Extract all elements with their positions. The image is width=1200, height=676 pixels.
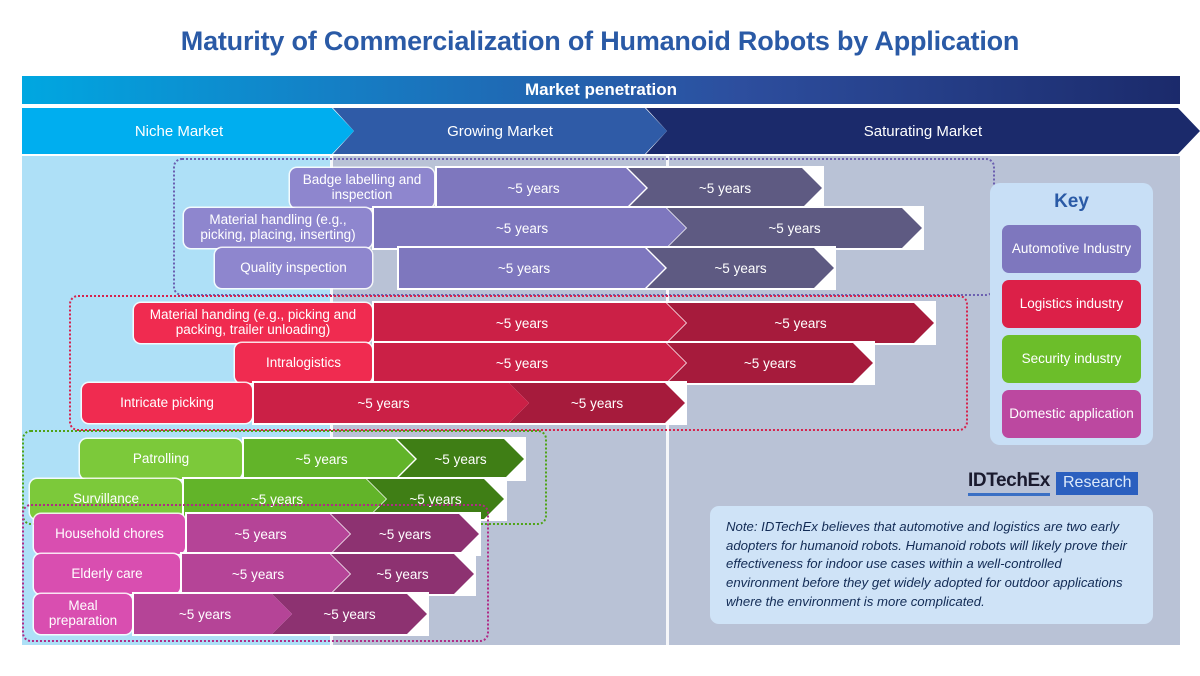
segment-growing: ~5 years (254, 383, 529, 423)
segment-saturating-label: ~5 years (744, 356, 796, 371)
key-item-domestic-label: Domestic application (1009, 406, 1134, 421)
segment-growing-label: ~5 years (357, 396, 409, 411)
stage-niche-market[interactable]: Niche Market (22, 108, 354, 154)
segment-saturating-label: ~5 years (376, 567, 428, 582)
stage-saturating-market[interactable]: Saturating Market (646, 108, 1200, 154)
segment-growing-label: ~5 years (496, 356, 548, 371)
segment-growing: ~5 years (399, 248, 665, 288)
segment-saturating: ~5 years (667, 208, 922, 248)
infographic-root: Maturity of Commercialization of Humanoi… (0, 0, 1200, 676)
market-penetration-band: Market penetration (22, 76, 1180, 104)
application-label-material-handling-auto[interactable]: Material handling (e.g., picking, placin… (184, 208, 372, 248)
segment-saturating-label: ~5 years (323, 607, 375, 622)
segment-saturating-label: ~5 years (379, 527, 431, 542)
segment-saturating-label: ~5 years (714, 261, 766, 276)
segment-growing-label: ~5 years (496, 316, 548, 331)
idtechex-logo[interactable]: IDTechEx Research (968, 471, 1138, 495)
segment-growing: ~5 years (374, 208, 686, 248)
segment-growing-label: ~5 years (295, 452, 347, 467)
application-label-badge-labelling[interactable]: Badge labelling and inspection (290, 168, 434, 208)
segment-growing: ~5 years (374, 343, 686, 383)
segment-growing: ~5 years (134, 594, 292, 634)
segment-growing-label: ~5 years (496, 221, 548, 236)
stage-saturating-market-label: Saturating Market (846, 123, 1000, 140)
key-item-domestic[interactable]: Domestic application (1002, 390, 1141, 438)
stage-growing-market[interactable]: Growing Market (333, 108, 667, 154)
segment-growing: ~5 years (244, 439, 415, 479)
segment-saturating-label: ~5 years (768, 221, 820, 236)
segment-saturating: ~5 years (331, 514, 479, 554)
key-item-logistics[interactable]: Logistics industry (1002, 280, 1141, 328)
application-label-quality-inspection[interactable]: Quality inspection (215, 248, 372, 288)
segment-saturating: ~5 years (628, 168, 822, 208)
segment-growing: ~5 years (182, 554, 350, 594)
segment-saturating-label: ~5 years (774, 316, 826, 331)
application-label-material-handing-logistics[interactable]: Material handing (e.g., picking and pack… (134, 303, 372, 343)
segment-saturating: ~5 years (331, 554, 474, 594)
segment-saturating: ~5 years (647, 248, 834, 288)
segment-growing-label: ~5 years (179, 607, 231, 622)
application-label-patrolling[interactable]: Patrolling (80, 439, 242, 479)
key-item-security-label: Security industry (1022, 351, 1122, 366)
key-item-automotive[interactable]: Automotive Industry (1002, 225, 1141, 273)
stage-growing-market-label: Growing Market (429, 123, 571, 140)
application-label-household-chores[interactable]: Household chores (34, 514, 185, 554)
key-item-security[interactable]: Security industry (1002, 335, 1141, 383)
key-panel: Key Automotive Industry Logistics indust… (990, 183, 1153, 445)
segment-saturating: ~5 years (272, 594, 427, 634)
segment-growing-label: ~5 years (498, 261, 550, 276)
segment-growing: ~5 years (187, 514, 350, 554)
segment-growing-label: ~5 years (507, 181, 559, 196)
segment-saturating: ~5 years (667, 303, 934, 343)
segment-growing: ~5 years (437, 168, 646, 208)
application-label-meal-preparation[interactable]: Meal preparation (34, 594, 132, 634)
segment-saturating: ~5 years (509, 383, 685, 423)
segment-growing-label: ~5 years (232, 567, 284, 582)
segment-growing-label: ~5 years (234, 527, 286, 542)
note-box: Note: IDTechEx believes that automotive … (710, 506, 1153, 624)
idtechex-logo-name: IDTechEx (968, 470, 1050, 496)
key-item-automotive-label: Automotive Industry (1012, 241, 1131, 256)
segment-saturating: ~5 years (667, 343, 873, 383)
key-item-logistics-label: Logistics industry (1020, 296, 1124, 311)
page-title: Maturity of Commercialization of Humanoi… (0, 26, 1200, 57)
application-label-intralogistics[interactable]: Intralogistics (235, 343, 372, 383)
application-label-elderly-care[interactable]: Elderly care (34, 554, 180, 594)
stage-chevron-row: Niche Market Growing Market Saturating M… (22, 108, 1200, 154)
segment-saturating-label: ~5 years (571, 396, 623, 411)
segment-saturating-label: ~5 years (699, 181, 751, 196)
idtechex-logo-suffix: Research (1056, 472, 1138, 495)
stage-niche-market-label: Niche Market (135, 123, 241, 140)
market-penetration-label: Market penetration (22, 76, 1180, 104)
segment-growing: ~5 years (374, 303, 686, 343)
key-title: Key (990, 191, 1153, 213)
segment-saturating-label: ~5 years (434, 452, 486, 467)
application-label-intricate-picking[interactable]: Intricate picking (82, 383, 252, 423)
